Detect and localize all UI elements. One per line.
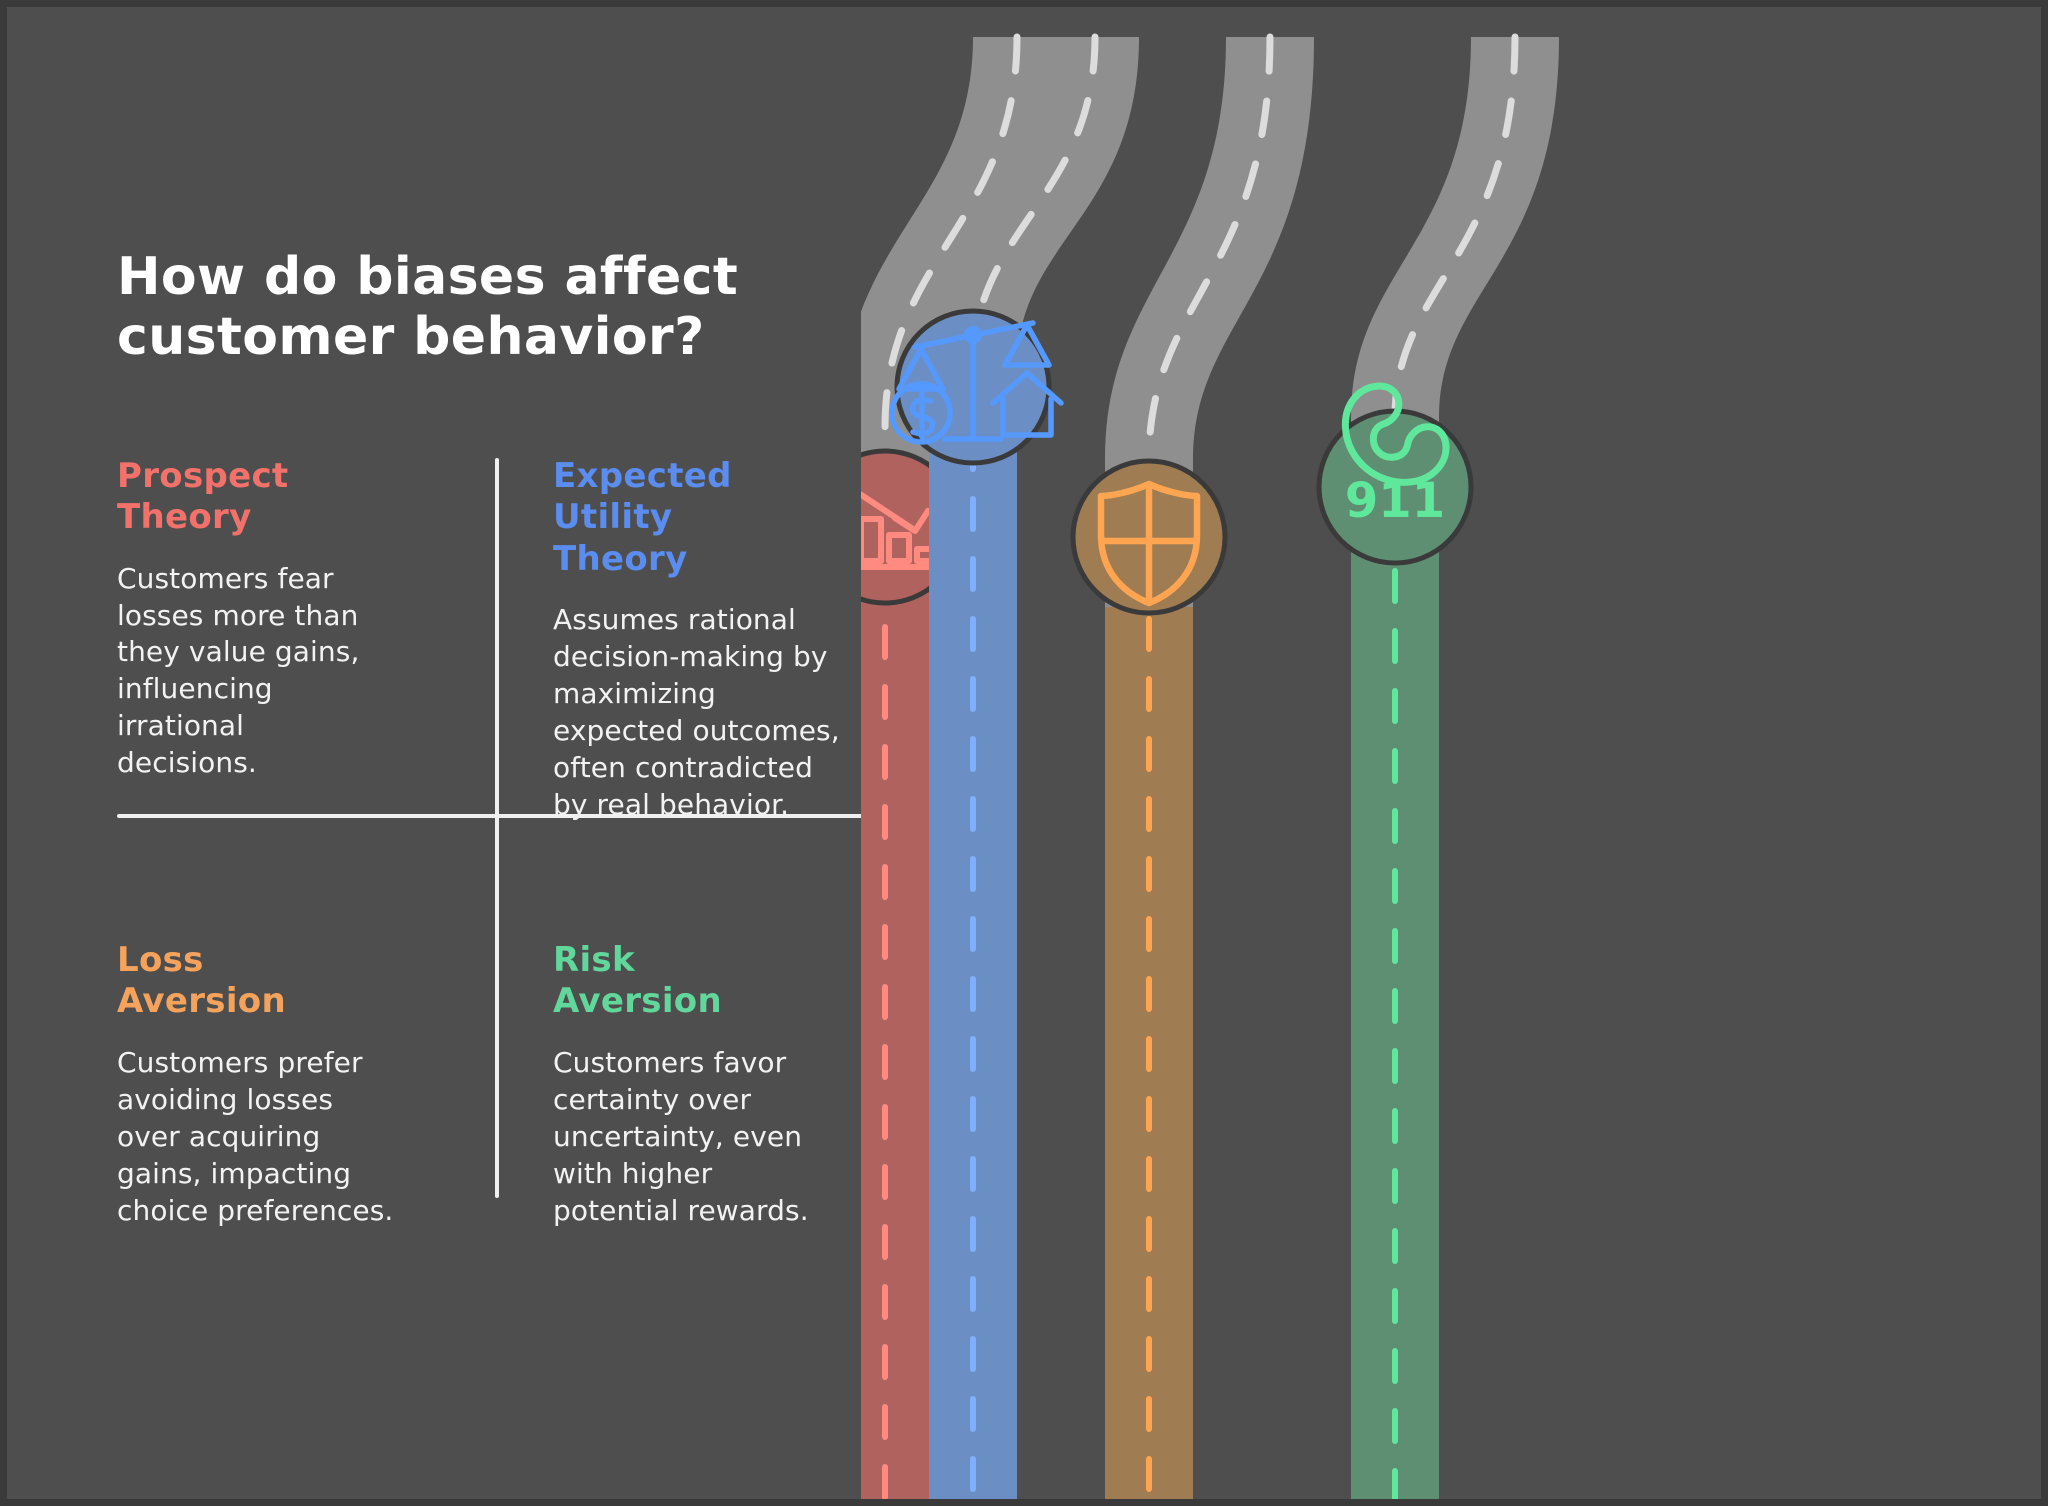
body-line: often contradicted	[553, 750, 873, 787]
heading-line: Prospect	[117, 456, 451, 497]
body-line: over acquiring	[117, 1119, 451, 1156]
horizontal-divider	[117, 814, 887, 818]
heading-line: Expected	[553, 456, 873, 497]
heading-line: Loss	[117, 940, 451, 981]
body-line: decisions.	[117, 745, 451, 782]
page-title-line-2: customer behavior?	[117, 307, 907, 367]
quadrant-loss-aversion: Loss Aversion Customers prefer avoiding …	[117, 940, 495, 1240]
body-line: Customers favor	[553, 1045, 873, 1082]
quadrant-body-prospect-theory: Customers fear losses more than they val…	[117, 561, 451, 783]
phone-emergency-label: 911	[1345, 473, 1445, 529]
body-line: irrational	[117, 708, 451, 745]
body-line: expected outcomes,	[553, 713, 873, 750]
quadrant-body-expected-utility-theory: Assumes rational decision-making by maxi…	[553, 602, 873, 824]
heading-line: Aversion	[553, 981, 873, 1022]
heading-line: Risk	[553, 940, 873, 981]
page-title-line-1: How do biases affect	[117, 247, 907, 307]
vertical-divider	[495, 458, 499, 1198]
road-risk-aversion: 911	[1319, 37, 1559, 1506]
body-line: potential rewards.	[553, 1193, 873, 1230]
page-title: How do biases affect customer behavior?	[117, 247, 907, 368]
heading-line: Theory	[553, 539, 873, 580]
infographic-slide: How do biases affect customer behavior? …	[0, 0, 2048, 1506]
heading-line: Aversion	[117, 981, 451, 1022]
roads-illustration: 911	[861, 7, 2041, 1506]
body-line: they value gains,	[117, 634, 451, 671]
body-line: gains, impacting	[117, 1156, 451, 1193]
body-line: with higher	[553, 1156, 873, 1193]
body-line: influencing	[117, 671, 451, 708]
text-panel: How do biases affect customer behavior? …	[117, 247, 907, 1240]
body-line: choice preferences.	[117, 1193, 451, 1230]
quadrant-prospect-theory: Prospect Theory Customers fear losses mo…	[117, 456, 495, 824]
body-line: decision-making by	[553, 639, 873, 676]
body-line: losses more than	[117, 598, 451, 635]
quadrant-body-loss-aversion: Customers prefer avoiding losses over ac…	[117, 1045, 451, 1230]
quadrant-heading-prospect-theory: Prospect Theory	[117, 456, 451, 539]
body-line: Customers prefer	[117, 1045, 451, 1082]
road-prospect-lane	[861, 555, 929, 1506]
body-line: uncertainty, even	[553, 1119, 873, 1156]
quadrant-heading-expected-utility-theory: Expected Utility Theory	[553, 456, 873, 580]
body-line: maximizing	[553, 676, 873, 713]
quadrant-row-bottom: Loss Aversion Customers prefer avoiding …	[117, 940, 907, 1240]
heading-line: Theory	[117, 497, 451, 538]
quadrant-risk-aversion: Risk Aversion Customers favor certainty …	[495, 940, 873, 1240]
quadrant-grid: Prospect Theory Customers fear losses mo…	[117, 456, 907, 1240]
body-line: by real behavior.	[553, 787, 873, 824]
heading-line: Utility	[553, 497, 873, 538]
body-line: avoiding losses	[117, 1082, 451, 1119]
body-line: Assumes rational	[553, 602, 873, 639]
quadrant-row-top: Prospect Theory Customers fear losses mo…	[117, 456, 907, 824]
road-loss-aversion	[1073, 37, 1314, 1506]
quadrant-heading-loss-aversion: Loss Aversion	[117, 940, 451, 1023]
quadrant-expected-utility-theory: Expected Utility Theory Assumes rational…	[495, 456, 873, 824]
body-line: Customers fear	[117, 561, 451, 598]
quadrant-heading-risk-aversion: Risk Aversion	[553, 940, 873, 1023]
quadrant-body-risk-aversion: Customers favor certainty over uncertain…	[553, 1045, 873, 1230]
body-line: certainty over	[553, 1082, 873, 1119]
